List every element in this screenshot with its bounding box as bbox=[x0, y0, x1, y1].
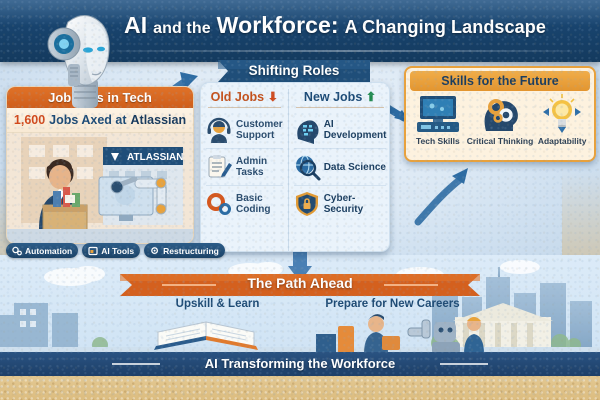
new-job-label: Data Science bbox=[324, 162, 386, 173]
gear-icon bbox=[150, 246, 160, 256]
skill-item-tech[interactable]: Tech Skills bbox=[409, 93, 467, 155]
path-ahead-ribbon: The Path Ahead bbox=[120, 272, 480, 298]
infographic-canvas: AI and the Workforce: A Changing Landsca… bbox=[0, 0, 600, 400]
job-cuts-stat-text: Jobs Axed at bbox=[49, 113, 126, 127]
skill-item-adapt[interactable]: Adaptability bbox=[533, 93, 591, 155]
brain-chip-icon bbox=[294, 117, 320, 143]
path-ahead-heading: The Path Ahead bbox=[120, 275, 480, 291]
tag-label: Automation bbox=[25, 246, 72, 256]
shifting-roles-panel[interactable]: Old Jobs ⬇ Customer Support bbox=[200, 82, 390, 252]
old-job-label: Customer Support bbox=[236, 119, 283, 141]
path-item-careers[interactable]: Prepare for New Careers bbox=[305, 298, 480, 314]
old-job-item[interactable]: Basic Coding bbox=[206, 186, 283, 222]
skill-label: Tech Skills bbox=[416, 136, 460, 146]
new-job-item[interactable]: Data Science bbox=[294, 149, 387, 186]
path-item-upskill[interactable]: Upskill & Learn bbox=[130, 298, 305, 314]
skill-item-critical[interactable]: Critical Thinking bbox=[467, 93, 534, 155]
tag-label: AI Tools bbox=[101, 246, 134, 256]
old-jobs-column: Old Jobs ⬇ Customer Support bbox=[201, 89, 288, 251]
skills-heading: Skills for the Future bbox=[410, 71, 590, 91]
clipboard-pen-icon bbox=[206, 154, 232, 180]
title-part-workforce: Workforce: bbox=[217, 12, 339, 38]
header-rule bbox=[118, 50, 572, 52]
tag-ai-tools[interactable]: AI Tools bbox=[82, 243, 140, 258]
new-jobs-column: New Jobs ⬆ AI Development bbox=[288, 89, 390, 251]
shifting-roles-heading: Shifting Roles bbox=[218, 63, 370, 78]
up-arrow-icon: ⬆ bbox=[366, 90, 376, 104]
desktop-computer-icon bbox=[415, 93, 461, 135]
old-job-label: Basic Coding bbox=[236, 193, 283, 215]
new-jobs-heading: New Jobs ⬆ bbox=[296, 89, 385, 108]
title-part-andthe: and the bbox=[153, 20, 211, 37]
shifting-roles-ribbon: Shifting Roles bbox=[218, 60, 370, 82]
skill-label: Critical Thinking bbox=[467, 136, 534, 146]
headset-agent-icon bbox=[206, 117, 232, 143]
tag-restructuring[interactable]: Restructuring bbox=[144, 243, 225, 258]
job-cuts-stat: 1,600 Jobs Axed at Atlassian bbox=[7, 108, 193, 133]
old-job-label: Admin Tasks bbox=[236, 156, 283, 178]
atlassian-logo-text: ATLASSIAN bbox=[127, 152, 183, 163]
footer-band: AI Transforming the Workforce bbox=[0, 352, 600, 376]
page-title: AI and the Workforce: A Changing Landsca… bbox=[124, 12, 546, 39]
job-cuts-number: 1,600 bbox=[14, 113, 45, 127]
down-arrow-icon: ⬇ bbox=[268, 90, 278, 104]
path-ahead-items: Upskill & Learn Prepare for New Careers bbox=[130, 298, 480, 314]
new-jobs-label: New Jobs bbox=[304, 90, 362, 104]
head-gears-icon bbox=[477, 93, 523, 135]
upskill-illustration bbox=[150, 310, 270, 358]
old-jobs-label: Old Jobs bbox=[211, 90, 264, 104]
skills-panel[interactable]: Skills for the Future Tech Skills bbox=[404, 66, 596, 162]
job-cuts-company: Atlassian bbox=[131, 113, 187, 127]
job-cuts-illustration: ATLASSIAN bbox=[7, 133, 193, 243]
app-window-icon bbox=[88, 246, 98, 256]
gears-icon bbox=[12, 246, 22, 256]
old-jobs-heading: Old Jobs ⬇ bbox=[208, 89, 281, 108]
magnifier-globe-icon bbox=[294, 154, 320, 180]
tag-label: Restructuring bbox=[163, 246, 219, 256]
title-part-subtitle: A Changing Landscape bbox=[345, 17, 546, 37]
robot-head-icon bbox=[38, 2, 126, 110]
shield-lock-icon bbox=[294, 191, 320, 217]
new-job-item[interactable]: Cyber-Security bbox=[294, 186, 387, 222]
new-job-label: Cyber-Security bbox=[324, 193, 387, 215]
footer-text: AI Transforming the Workforce bbox=[0, 356, 600, 371]
old-job-item[interactable]: Customer Support bbox=[206, 112, 283, 149]
new-job-label: AI Development bbox=[324, 119, 387, 141]
title-part-ai: AI bbox=[124, 12, 147, 38]
lightbulb-arrows-icon bbox=[539, 93, 585, 135]
tag-list: Automation AI Tools Restructuring bbox=[6, 243, 225, 258]
new-job-item[interactable]: AI Development bbox=[294, 112, 387, 149]
tag-automation[interactable]: Automation bbox=[6, 243, 78, 258]
gears-icon bbox=[206, 191, 232, 217]
old-job-item[interactable]: Admin Tasks bbox=[206, 149, 283, 186]
skill-label: Adaptability bbox=[538, 136, 587, 146]
